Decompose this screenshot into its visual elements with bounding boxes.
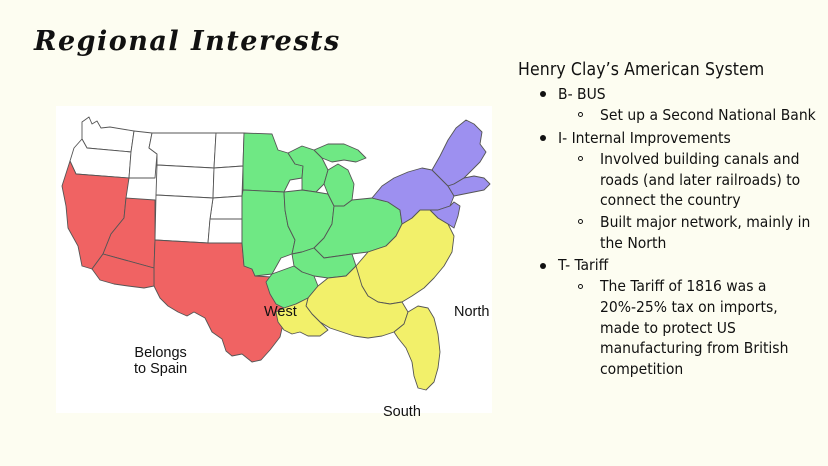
bullet-item-tariff: T- Tariff The Tariff of 1816 was a 20%-2… — [518, 255, 818, 379]
bullet-dot-icon — [540, 91, 546, 97]
page-title: Regional Interests — [34, 26, 341, 57]
sub-bullet-item: Involved building canals and roads (and … — [556, 149, 818, 211]
sub-bullet-label: Set up a Second National Bank — [600, 105, 818, 126]
content-column: Henry Clay’s American System B- BUS Set … — [518, 60, 818, 379]
sub-bullet-label: Built major network, mainly in the North — [600, 212, 818, 253]
bullet-ring-icon — [578, 156, 583, 161]
bullet-label: B- BUS — [558, 84, 818, 104]
bullet-item-internal-improvements: I- Internal Improvements Involved buildi… — [518, 128, 818, 253]
sub-bullet-label: Involved building canals and roads (and … — [600, 149, 818, 211]
bullet-label: T- Tariff — [558, 255, 818, 275]
sub-bullet-item: Set up a Second National Bank — [556, 105, 818, 126]
bullet-dot-icon — [540, 135, 546, 141]
bullet-ring-icon — [578, 219, 583, 224]
sub-bullet-list: The Tariff of 1816 was a 20%-25% tax on … — [558, 276, 818, 379]
bullet-ring-icon — [578, 284, 583, 289]
bullet-ring-icon — [578, 112, 583, 117]
sub-bullet-item: Built major network, mainly in the North — [556, 212, 818, 253]
sub-bullet-list: Involved building canals and roads (and … — [558, 149, 818, 253]
sub-bullet-label: The Tariff of 1816 was a 20%-25% tax on … — [600, 276, 818, 379]
bullet-item-bus: B- BUS Set up a Second National Bank — [518, 84, 818, 126]
sub-bullet-list: Set up a Second National Bank — [558, 105, 818, 126]
bullet-dot-icon — [540, 263, 546, 269]
us-map-svg — [56, 106, 492, 413]
bullet-label: I- Internal Improvements — [558, 128, 818, 148]
sub-bullet-item: The Tariff of 1816 was a 20%-25% tax on … — [556, 276, 818, 379]
content-heading: Henry Clay’s American System — [518, 60, 818, 82]
bullet-list: B- BUS Set up a Second National Bank I- … — [518, 84, 818, 380]
slide-canvas: Regional Interests — [0, 0, 828, 466]
regional-interests-map[interactable]: West North South Belongs to Spain — [56, 106, 492, 413]
